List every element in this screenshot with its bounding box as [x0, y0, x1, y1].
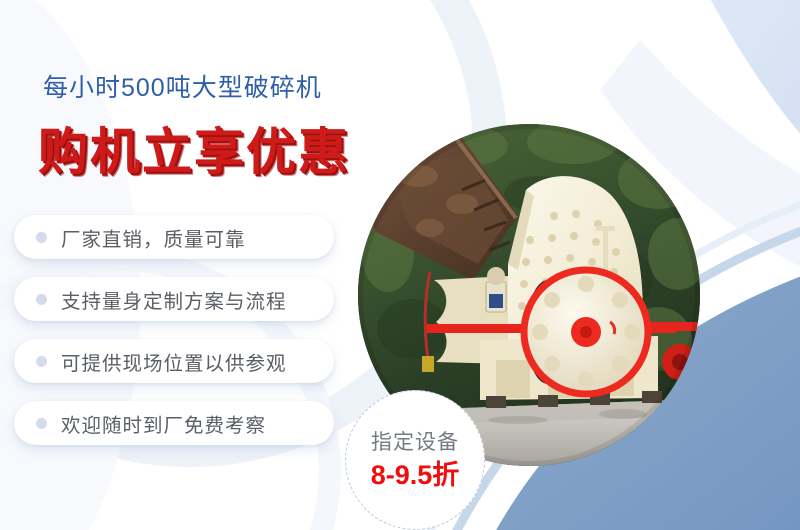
feature-label: 支持量身定制方案与流程 [61, 285, 287, 314]
badge-discount-label: 8-9.5折 [371, 462, 460, 489]
banner-subtitle: 每小时500吨大型破碎机 [43, 68, 322, 104]
feature-label: 可提供现场位置以供参观 [61, 347, 287, 376]
feature-label: 厂家直销，质量可靠 [61, 223, 246, 252]
bullet-dot-icon [36, 232, 47, 243]
feature-label: 欢迎随时到厂免费考察 [61, 409, 266, 438]
feature-item-1: 厂家直销，质量可靠 [14, 215, 334, 259]
banner-headline: 购机立享优惠 [38, 112, 350, 184]
badge-top-label: 指定设备 [371, 432, 459, 453]
feature-list: 厂家直销，质量可靠 支持量身定制方案与流程 可提供现场位置以供参观 欢迎随时到厂… [14, 215, 334, 463]
bullet-dot-icon [36, 356, 47, 367]
promo-banner: 每小时500吨大型破碎机 购机立享优惠 厂家直销，质量可靠 支持量身定制方案与流… [0, 0, 800, 530]
feature-item-3: 可提供现场位置以供参观 [14, 339, 334, 383]
feature-item-2: 支持量身定制方案与流程 [14, 277, 334, 321]
discount-badge: 指定设备 8-9.5折 [345, 390, 485, 530]
bullet-dot-icon [36, 418, 47, 429]
decor-blue-band-top-right [690, 0, 800, 210]
feature-item-4: 欢迎随时到厂免费考察 [14, 401, 334, 445]
bullet-dot-icon [36, 294, 47, 305]
